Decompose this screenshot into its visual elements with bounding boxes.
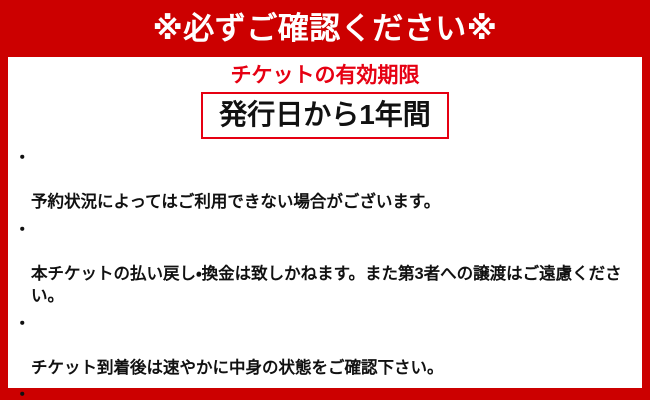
bullet-dot-icon: ・ [14, 148, 31, 170]
list-item-text: チケット到着後は速やかに中身の状態をご確認下さい。 [31, 359, 444, 377]
list-item: ・ 予約状況によってはご利用できない場合がございます。 [14, 148, 640, 214]
ticket-expiry-block: チケットの有効期限 発行日から1年間 [8, 57, 642, 139]
frame-border-left [0, 57, 8, 400]
ticket-expiry-value: 発行日から1年間 [219, 99, 431, 130]
list-item-text: 予約状況によってはご利用できない場合がございます。 [31, 193, 440, 211]
list-item-text: 本チケットの払い戻し・換金は致しかねます。また第3者への譲渡はご遠慮ください。 [31, 265, 622, 305]
bullet-dot-icon: ・ [14, 314, 31, 336]
notice-header-band: ※必ずご確認ください※ [0, 0, 650, 57]
bullet-dot-icon: ・ [14, 220, 31, 242]
notice-bullet-list: ・ 予約状況によってはご利用できない場合がございます。 ・ 本チケットの払い戻し… [8, 148, 642, 400]
ticket-expiry-box: 発行日から1年間 [201, 92, 449, 139]
list-item: ・ 必ず、有効期限内にご利用ください。有効期限が過ぎたものにつきましては、 ご利… [14, 385, 640, 400]
list-item: ・ 本チケットの払い戻し・換金は致しかねます。また第3者への譲渡はご遠慮ください… [14, 220, 640, 308]
notice-card: ※必ずご確認ください※ チケットの有効期限 発行日から1年間 ・ 予約状況によっ… [0, 0, 650, 400]
frame-border-right [642, 57, 650, 400]
bullet-dot-icon: ・ [14, 385, 31, 400]
list-item: ・ チケット到着後は速やかに中身の状態をご確認下さい。 [14, 314, 640, 380]
notice-body: チケットの有効期限 発行日から1年間 ・ 予約状況によってはご利用できない場合が… [8, 57, 642, 388]
ticket-expiry-label: チケットの有効期限 [8, 64, 642, 87]
notice-header-title: ※必ずご確認ください※ [153, 13, 498, 44]
